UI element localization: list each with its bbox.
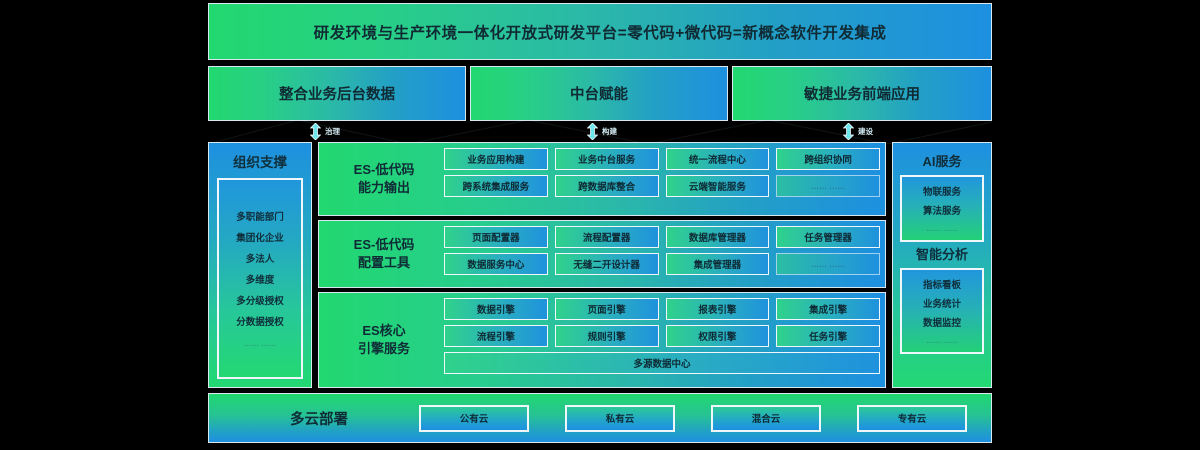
pillar-label: 整合业务后台数据 bbox=[279, 83, 395, 104]
chip-item[interactable]: 数据引擎 bbox=[444, 298, 548, 320]
chip-item[interactable]: 跨系统集成服务 bbox=[444, 175, 548, 197]
layer-label-line1: ES-低代码 bbox=[354, 236, 415, 254]
chip-item-multisource-data-center[interactable]: 多源数据中心 bbox=[444, 352, 880, 374]
chip-item[interactable]: 任务管理器 bbox=[776, 226, 880, 248]
list-item[interactable]: 指标看板 bbox=[923, 277, 961, 291]
chip-row: 流程引擎 规则引擎 权限引擎 任务引擎 bbox=[444, 325, 880, 347]
platform-title-text: 研发环境与生产环境一体化开放式研发平台=零代码+微代码=新概念软件开发集成 bbox=[314, 21, 887, 43]
double-arrow-vertical-icon bbox=[587, 123, 598, 140]
list-item[interactable]: 多职能部门 bbox=[236, 209, 284, 223]
chip-item[interactable]: 页面配置器 bbox=[444, 226, 548, 248]
list-item[interactable]: 集团化企业 bbox=[236, 230, 284, 244]
organization-support-list: 多职能部门 集团化企业 多法人 多维度 多分级授权 分数据授权 …… …… bbox=[217, 178, 303, 379]
pillar-midplatform-enable[interactable]: 中台赋能 bbox=[470, 66, 728, 121]
ai-services-list: 物联服务 算法服务 …… …… bbox=[900, 175, 984, 242]
panel-organization-support: 组织支撑 多职能部门 集团化企业 多法人 多维度 多分级授权 分数据授权 …… … bbox=[208, 142, 312, 388]
layer-lowcode-capability-output: ES-低代码 能力输出 业务应用构建 业务中台服务 统一流程中心 跨组织协同 跨… bbox=[318, 142, 886, 216]
chip-item[interactable]: 跨数据库整合 bbox=[555, 175, 659, 197]
chip-item-ellipsis: …… …… bbox=[776, 175, 880, 197]
chip-item[interactable]: 无缝二开设计器 bbox=[555, 253, 659, 275]
pillar-agile-frontend[interactable]: 敏捷业务前端应用 bbox=[732, 66, 992, 121]
connector-label: 治理 bbox=[325, 126, 340, 137]
connector-governance: 治理 bbox=[310, 122, 340, 140]
connector-construct: 构建 bbox=[587, 122, 617, 140]
chip-item[interactable]: 业务中台服务 bbox=[555, 148, 659, 170]
layer-chip-grid: 业务应用构建 业务中台服务 统一流程中心 跨组织协同 跨系统集成服务 跨数据库整… bbox=[444, 148, 880, 210]
list-item[interactable]: 物联服务 bbox=[923, 184, 961, 198]
pillar-label: 中台赋能 bbox=[570, 83, 628, 104]
chip-item[interactable]: 云端智能服务 bbox=[666, 175, 770, 197]
chip-item[interactable]: 集成管理器 bbox=[666, 253, 770, 275]
chip-item[interactable]: 流程配置器 bbox=[555, 226, 659, 248]
chip-item[interactable]: 统一流程中心 bbox=[666, 148, 770, 170]
multicloud-deployment-bar: 多云部署 公有云 私有云 混合云 专有云 bbox=[208, 393, 992, 443]
layer-chip-grid: 页面配置器 流程配置器 数据库管理器 任务管理器 数据服务中心 无缝二开设计器 … bbox=[444, 226, 880, 282]
list-item[interactable]: 算法服务 bbox=[923, 203, 961, 217]
list-item[interactable]: 数据监控 bbox=[923, 315, 961, 329]
list-item[interactable]: 多分级授权 bbox=[236, 293, 284, 307]
list-item[interactable]: 业务统计 bbox=[923, 296, 961, 310]
double-arrow-vertical-icon bbox=[843, 123, 854, 140]
list-item[interactable]: 多维度 bbox=[246, 272, 275, 286]
chip-row: 数据引擎 页面引擎 报表引擎 集成引擎 bbox=[444, 298, 880, 320]
chip-row-full: 多源数据中心 bbox=[444, 352, 880, 374]
connector-build: 建设 bbox=[843, 122, 873, 140]
chip-item[interactable]: 数据库管理器 bbox=[666, 226, 770, 248]
panel-title-intelligent-analysis: 智能分析 bbox=[916, 244, 968, 263]
chip-item[interactable]: 规则引擎 bbox=[555, 325, 659, 347]
panel-title-ai-services: AI服务 bbox=[922, 151, 961, 170]
chip-row: 业务应用构建 业务中台服务 统一流程中心 跨组织协同 bbox=[444, 148, 880, 170]
layer-es-core-engine-services: ES核心 引擎服务 数据引擎 页面引擎 报表引擎 集成引擎 流程引擎 规则引擎 … bbox=[318, 292, 886, 388]
chip-item[interactable]: 业务应用构建 bbox=[444, 148, 548, 170]
cloud-chip-hybrid[interactable]: 混合云 bbox=[711, 405, 821, 432]
connector-label: 构建 bbox=[602, 126, 617, 137]
chip-item[interactable]: 数据服务中心 bbox=[444, 253, 548, 275]
layer-label: ES-低代码 配置工具 bbox=[324, 226, 444, 282]
layer-label-line1: ES-低代码 bbox=[354, 161, 415, 179]
list-item-ellipsis: …… …… bbox=[926, 224, 958, 233]
layer-lowcode-config-tools: ES-低代码 配置工具 页面配置器 流程配置器 数据库管理器 任务管理器 数据服… bbox=[318, 220, 886, 288]
layer-label-line2: 能力输出 bbox=[358, 179, 410, 197]
layer-label: ES-低代码 能力输出 bbox=[324, 148, 444, 210]
chip-item[interactable]: 集成引擎 bbox=[776, 298, 880, 320]
chip-row: 跨系统集成服务 跨数据库整合 云端智能服务 …… …… bbox=[444, 175, 880, 197]
chip-item[interactable]: 任务引擎 bbox=[776, 325, 880, 347]
center-layer-stack: ES-低代码 能力输出 业务应用构建 业务中台服务 统一流程中心 跨组织协同 跨… bbox=[318, 142, 886, 388]
pillar-backend-data[interactable]: 整合业务后台数据 bbox=[208, 66, 466, 121]
list-item-ellipsis: …… …… bbox=[926, 336, 958, 345]
chip-item[interactable]: 流程引擎 bbox=[444, 325, 548, 347]
layer-label: ES核心 引擎服务 bbox=[324, 298, 444, 382]
layer-label-line2: 引擎服务 bbox=[358, 340, 410, 358]
pillar-label: 敏捷业务前端应用 bbox=[804, 83, 920, 104]
layer-chip-grid: 数据引擎 页面引擎 报表引擎 集成引擎 流程引擎 规则引擎 权限引擎 任务引擎 … bbox=[444, 298, 880, 382]
chip-row: 数据服务中心 无缝二开设计器 集成管理器 …… …… bbox=[444, 253, 880, 275]
cloud-chip-dedicated[interactable]: 专有云 bbox=[857, 405, 967, 432]
cloud-chip-private[interactable]: 私有云 bbox=[565, 405, 675, 432]
chip-item-ellipsis: …… …… bbox=[776, 253, 880, 275]
multicloud-label: 多云部署 bbox=[219, 408, 419, 429]
cloud-chip-group: 公有云 私有云 混合云 专有云 bbox=[419, 405, 981, 432]
panel-ai-and-analytics: AI服务 物联服务 算法服务 …… …… 智能分析 指标看板 业务统计 数据监控… bbox=[892, 142, 992, 388]
list-item[interactable]: 分数据授权 bbox=[236, 314, 284, 328]
diagram-canvas: 研发环境与生产环境一体化开放式研发平台=零代码+微代码=新概念软件开发集成 整合… bbox=[0, 0, 1200, 450]
chip-item[interactable]: 权限引擎 bbox=[666, 325, 770, 347]
chip-item[interactable]: 页面引擎 bbox=[555, 298, 659, 320]
layer-label-line2: 配置工具 bbox=[358, 254, 410, 272]
platform-title-banner: 研发环境与生产环境一体化开放式研发平台=零代码+微代码=新概念软件开发集成 bbox=[208, 3, 992, 60]
chip-row: 页面配置器 流程配置器 数据库管理器 任务管理器 bbox=[444, 226, 880, 248]
list-item[interactable]: 多法人 bbox=[246, 251, 275, 265]
panel-title: 组织支撑 bbox=[233, 151, 287, 171]
cloud-chip-public[interactable]: 公有云 bbox=[419, 405, 529, 432]
double-arrow-vertical-icon bbox=[310, 123, 321, 140]
chip-item[interactable]: 报表引擎 bbox=[666, 298, 770, 320]
list-item-ellipsis: …… …… bbox=[244, 339, 276, 348]
layer-label-line1: ES核心 bbox=[362, 322, 405, 340]
middle-region: 组织支撑 多职能部门 集团化企业 多法人 多维度 多分级授权 分数据授权 …… … bbox=[208, 142, 992, 388]
intelligent-analysis-list: 指标看板 业务统计 数据监控 …… …… bbox=[900, 268, 984, 354]
connector-label: 建设 bbox=[858, 126, 873, 137]
chip-item[interactable]: 跨组织协同 bbox=[776, 148, 880, 170]
pillars-row: 整合业务后台数据 中台赋能 敏捷业务前端应用 bbox=[208, 66, 992, 121]
